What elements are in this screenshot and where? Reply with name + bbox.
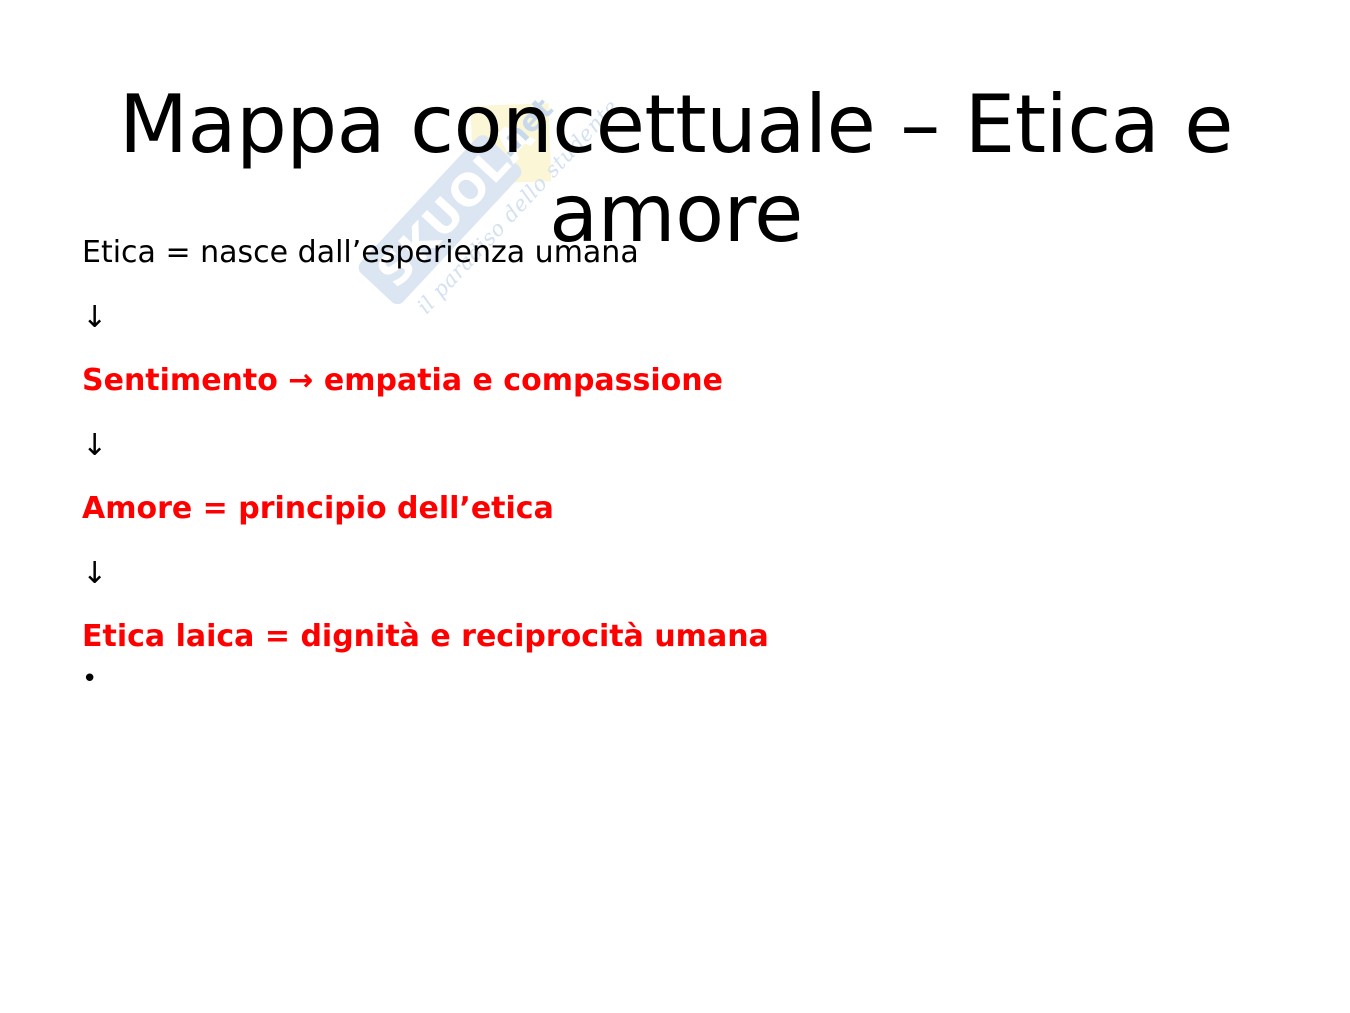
slide-body: Etica = nasce dall’esperienza umana ↓ Se… [82,238,1282,692]
slide-canvas: SKUOLA .net il paradiso dello studente M… [0,0,1350,1013]
down-arrow-icon-1: ↓ [82,303,1282,333]
body-line-sentimento: Sentimento → empatia e compassione [82,366,1282,398]
list-item: • [82,666,1282,692]
bullet-icon: • [82,666,104,692]
page-title: Mappa concettuale – Etica e amore [78,80,1274,259]
body-line-etica-laica: Etica laica = dignità e reciprocità uman… [82,622,1282,654]
body-line-etica: Etica = nasce dall’esperienza umana [82,238,1282,268]
body-line-amore: Amore = principio dell’etica [82,494,1282,526]
down-arrow-icon-2: ↓ [82,431,1282,461]
down-arrow-icon-3: ↓ [82,559,1282,589]
